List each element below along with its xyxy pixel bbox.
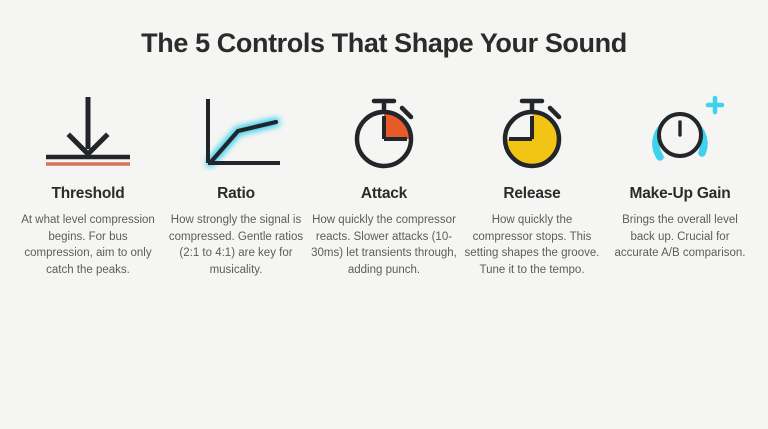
makeup-gain-knob-icon bbox=[606, 85, 754, 177]
card-title: Make-Up Gain bbox=[630, 185, 731, 203]
card-title: Attack bbox=[361, 185, 407, 203]
control-card-release: Release How quickly the compressor stops… bbox=[458, 85, 606, 278]
control-card-attack: Attack How quickly the compressor reacts… bbox=[310, 85, 458, 278]
card-description: Brings the overall level back up. Crucia… bbox=[611, 212, 749, 262]
card-description: How quickly the compressor stops. This s… bbox=[463, 212, 601, 278]
control-card-ratio: Ratio How strongly the signal is compres… bbox=[162, 85, 310, 278]
controls-card-row: Threshold At what level compression begi… bbox=[14, 85, 754, 278]
card-description: How strongly the signal is compressed. G… bbox=[167, 212, 305, 278]
page-title: The 5 Controls That Shape Your Sound bbox=[141, 28, 627, 59]
card-description: At what level compression begins. For bu… bbox=[19, 212, 157, 278]
card-title: Release bbox=[503, 185, 560, 203]
card-title: Threshold bbox=[51, 185, 124, 203]
card-description: How quickly the compressor reacts. Slowe… bbox=[311, 212, 457, 278]
control-card-threshold: Threshold At what level compression begi… bbox=[14, 85, 162, 278]
control-card-makeup-gain: Make-Up Gain Brings the overall level ba… bbox=[606, 85, 754, 262]
threshold-arrow-icon bbox=[14, 85, 162, 177]
release-stopwatch-icon bbox=[458, 85, 606, 177]
card-title: Ratio bbox=[217, 185, 255, 203]
ratio-knee-curve-icon bbox=[162, 85, 310, 177]
infographic-page: The 5 Controls That Shape Your Sound Thr… bbox=[0, 0, 768, 429]
attack-stopwatch-icon bbox=[310, 85, 458, 177]
